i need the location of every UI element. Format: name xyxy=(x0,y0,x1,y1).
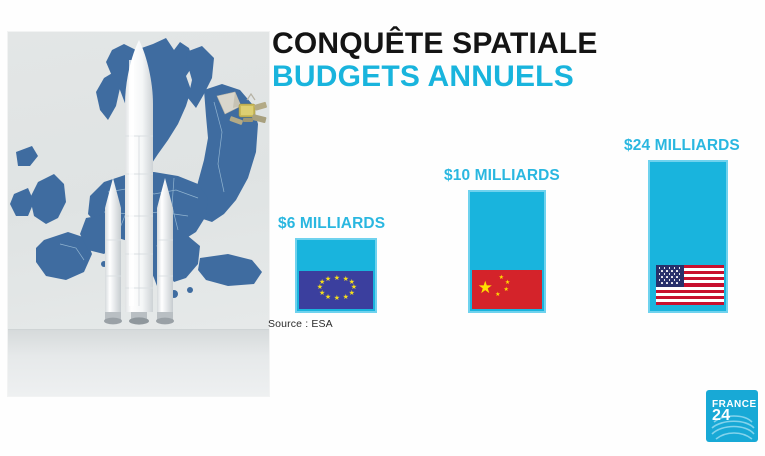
bar-group-china: $10 MILLIARDS ★ ★ ★ ★ ★ xyxy=(468,190,546,313)
headline-line2: BUDGETS ANNUELS xyxy=(272,61,742,92)
flag-eu: ★ ★ ★ ★ ★ ★ ★ ★ ★ ★ ★ ★ xyxy=(299,271,373,309)
bar-group-usa: $24 MILLIARDS xyxy=(648,160,728,313)
logo-bottom-text: 24 xyxy=(712,408,730,424)
bar-china: $10 MILLIARDS ★ ★ ★ ★ ★ xyxy=(468,190,546,313)
infographic-stage: CONQUÊTE SPATIALE BUDGETS ANNUELS $6 MIL… xyxy=(0,0,765,456)
bar-label-china: $10 MILLIARDS xyxy=(444,167,560,185)
bar-usa: $24 MILLIARDS xyxy=(648,160,728,313)
bar-group-europe: $6 MILLIARDS ★ ★ ★ ★ ★ ★ ★ ★ ★ ★ ★ ★ xyxy=(295,238,377,313)
bar-label-europe: $6 MILLIARDS xyxy=(278,215,385,233)
headline-block: CONQUÊTE SPATIALE BUDGETS ANNUELS xyxy=(272,28,742,92)
flag-us xyxy=(656,265,724,305)
satellite-graphic xyxy=(213,90,269,142)
flag-cn: ★ ★ ★ ★ ★ xyxy=(472,270,542,309)
ariane-rocket xyxy=(91,40,187,340)
source-credit: Source : ESA xyxy=(268,318,333,330)
headline-line1: CONQUÊTE SPATIALE xyxy=(272,28,742,59)
bar-label-usa: $24 MILLIARDS xyxy=(624,137,740,155)
rocket-photo-panel xyxy=(8,32,269,396)
bar-europe: $6 MILLIARDS ★ ★ ★ ★ ★ ★ ★ ★ ★ ★ ★ ★ xyxy=(295,238,377,313)
france24-logo: FRANCE 24 xyxy=(706,390,758,442)
